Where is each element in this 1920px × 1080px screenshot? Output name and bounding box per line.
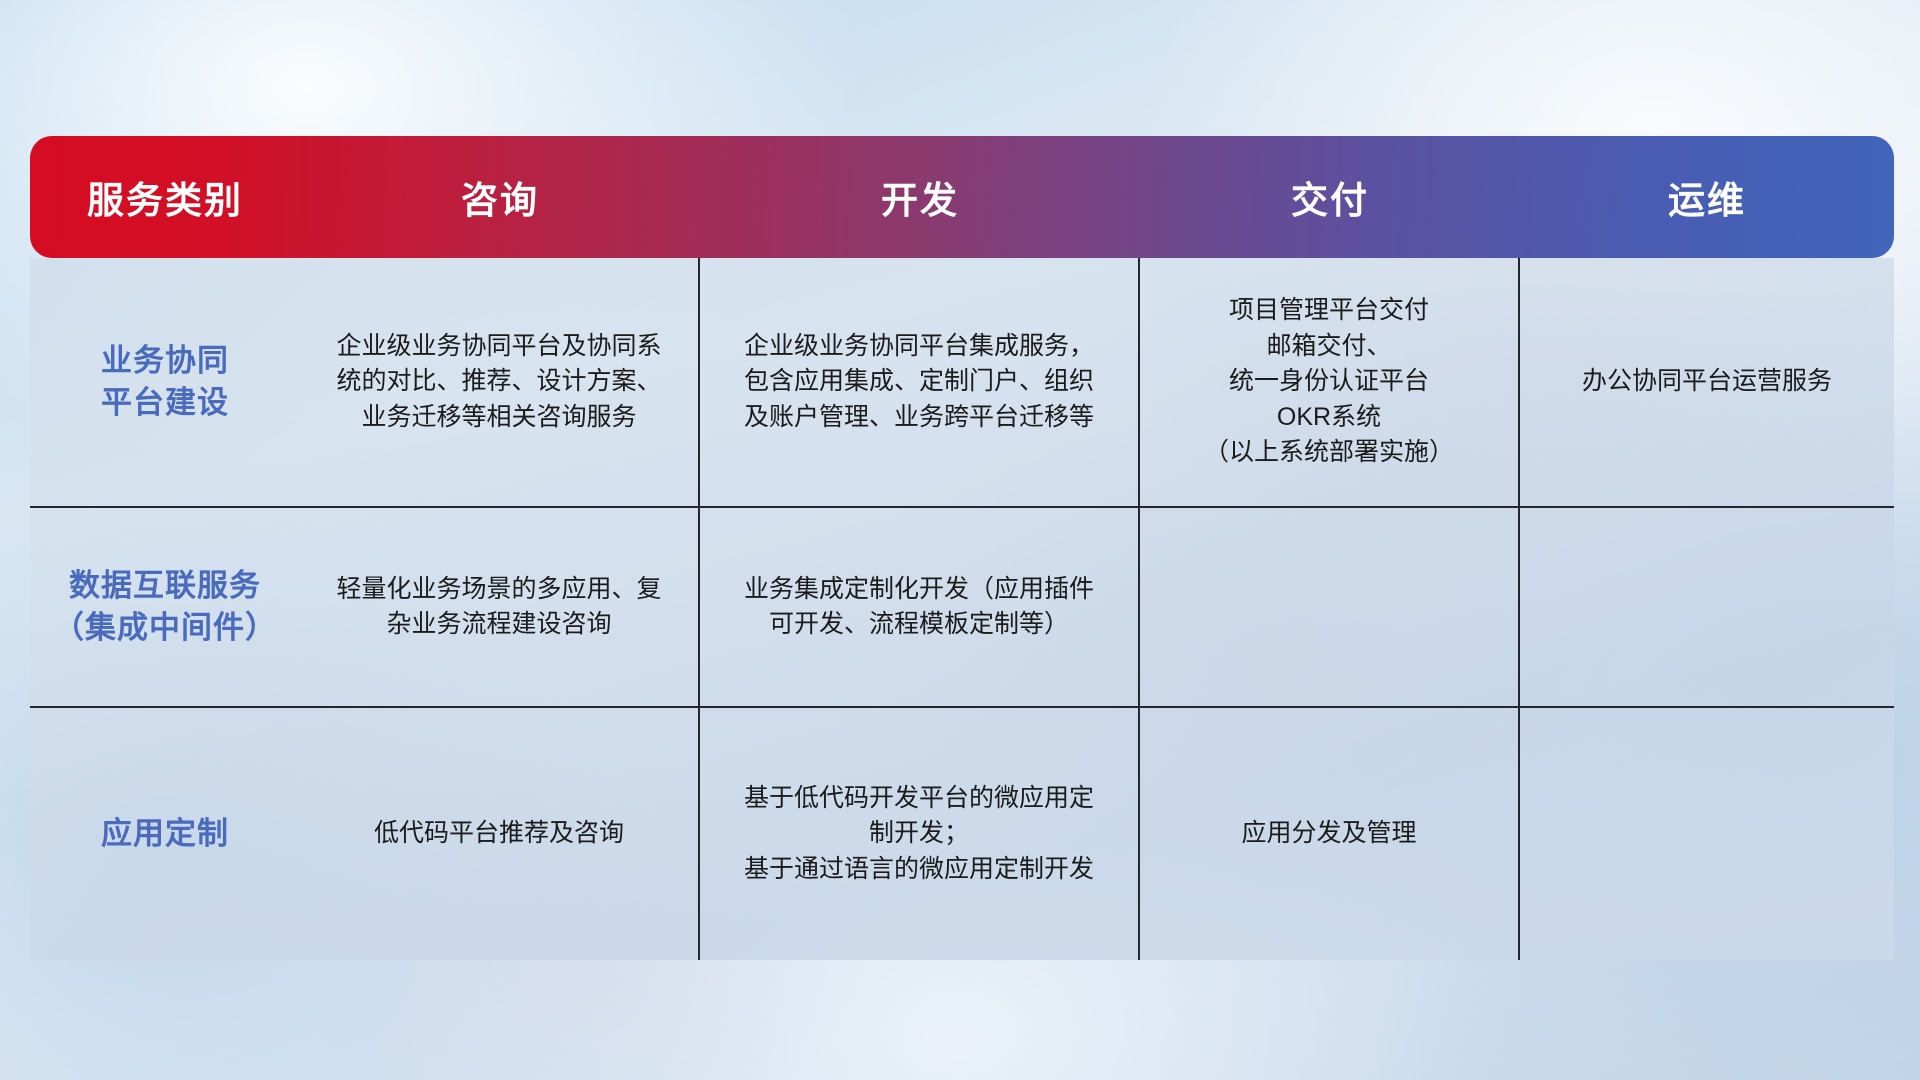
table-row: 应用定制 低代码平台推荐及咨询 基于低代码开发平台的微应用定 制开发； 基于通过… [30, 708, 1894, 960]
row-category-text: 应用定制 [101, 816, 229, 851]
cell-development: 企业级业务协同平台集成服务， 包含应用集成、定制门户、组织 及账户管理、业务跨平… [700, 258, 1140, 508]
service-matrix-table: 服务类别 咨询 开发 交付 运维 业务协同 平台建设 企业级业务协同平台及协同系… [30, 136, 1894, 960]
row-category-label: 应用定制 [30, 708, 300, 960]
column-header-delivery[interactable]: 交付 [1140, 136, 1520, 258]
cell-delivery-text: 应用分发及管理 [1241, 819, 1416, 847]
column-header-consulting[interactable]: 咨询 [300, 136, 700, 258]
cell-development-text: 业务集成定制化开发（应用插件 可开发、流程模板定制等） [744, 575, 1094, 639]
row-category-text: 数据互联服务 （集成中间件） [53, 568, 277, 645]
cell-delivery: 项目管理平台交付 邮箱交付、 统一身份认证平台 OKR系统 （以上系统部署实施） [1140, 258, 1520, 508]
row-category-label: 数据互联服务 （集成中间件） [30, 508, 300, 708]
cell-delivery-text: 项目管理平台交付 邮箱交付、 统一身份认证平台 OKR系统 （以上系统部署实施） [1204, 296, 1454, 466]
row-category-text: 业务协同 平台建设 [101, 343, 229, 420]
cell-consulting: 企业级业务协同平台及协同系 统的对比、推荐、设计方案、 业务迁移等相关咨询服务 [300, 258, 700, 508]
cell-consulting: 低代码平台推荐及咨询 [300, 708, 700, 960]
cell-operations-text: 办公协同平台运营服务 [1582, 367, 1832, 395]
table-header-row: 服务类别 咨询 开发 交付 运维 [30, 136, 1894, 258]
cell-delivery: 应用分发及管理 [1140, 708, 1520, 960]
cell-development-text: 企业级业务协同平台集成服务， 包含应用集成、定制门户、组织 及账户管理、业务跨平… [744, 332, 1094, 431]
cell-operations [1520, 708, 1894, 960]
column-header-operations[interactable]: 运维 [1520, 136, 1894, 258]
row-category-label: 业务协同 平台建设 [30, 258, 300, 508]
column-header-development[interactable]: 开发 [700, 136, 1140, 258]
table-header-row-group: 服务类别 咨询 开发 交付 运维 [30, 136, 1894, 258]
cell-consulting-text: 轻量化业务场景的多应用、复 杂业务流程建设咨询 [336, 575, 661, 639]
column-header-category[interactable]: 服务类别 [30, 136, 300, 258]
cell-development: 业务集成定制化开发（应用插件 可开发、流程模板定制等） [700, 508, 1140, 708]
cell-development-text: 基于低代码开发平台的微应用定 制开发； 基于通过语言的微应用定制开发 [744, 784, 1094, 883]
cell-consulting: 轻量化业务场景的多应用、复 杂业务流程建设咨询 [300, 508, 700, 708]
table-body: 业务协同 平台建设 企业级业务协同平台及协同系 统的对比、推荐、设计方案、 业务… [30, 258, 1894, 960]
table-row: 业务协同 平台建设 企业级业务协同平台及协同系 统的对比、推荐、设计方案、 业务… [30, 258, 1894, 508]
cell-delivery [1140, 508, 1520, 708]
cell-consulting-text: 企业级业务协同平台及协同系 统的对比、推荐、设计方案、 业务迁移等相关咨询服务 [336, 332, 661, 431]
cell-operations: 办公协同平台运营服务 [1520, 258, 1894, 508]
table-row: 数据互联服务 （集成中间件） 轻量化业务场景的多应用、复 杂业务流程建设咨询 业… [30, 508, 1894, 708]
cell-operations [1520, 508, 1894, 708]
cell-consulting-text: 低代码平台推荐及咨询 [374, 819, 624, 847]
cell-development: 基于低代码开发平台的微应用定 制开发； 基于通过语言的微应用定制开发 [700, 708, 1140, 960]
